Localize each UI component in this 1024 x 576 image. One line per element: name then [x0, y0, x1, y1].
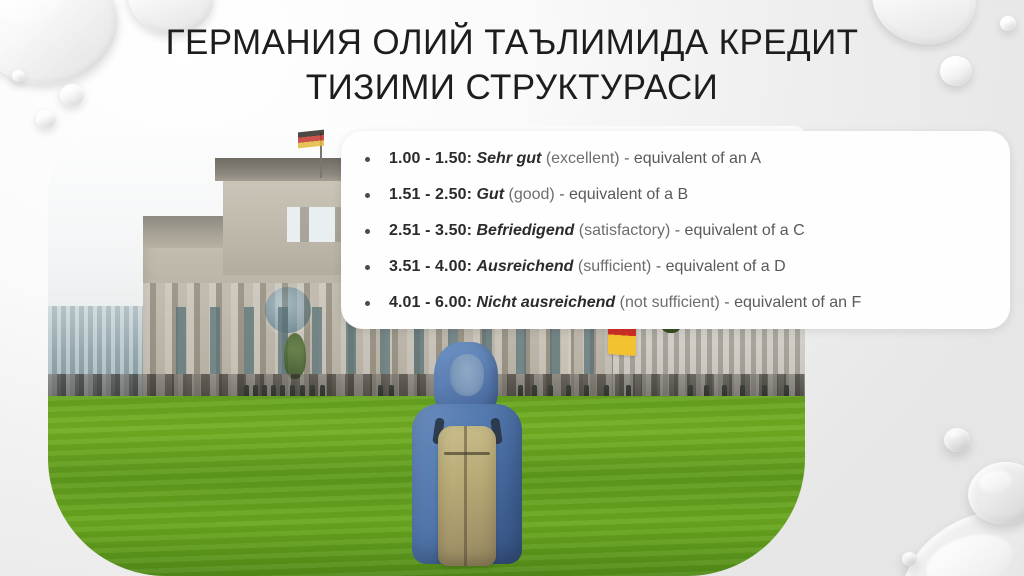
bubble-icon [60, 84, 84, 106]
grade-gloss: (not sufficient) [620, 294, 720, 311]
presentation-slide: ГЕРМАНИЯ ОЛИЙ ТАЪЛИМИДА КРЕДИТ ТИЗИМИ СТ… [0, 0, 1024, 576]
grade-range: 2.51 - 3.50: [389, 222, 472, 239]
grading-scale-list: 1.00 - 1.50: Sehr gut (excellent) - equi… [341, 141, 1010, 321]
bubble-icon [881, 486, 1024, 576]
grade-gloss: (satisfactory) [579, 222, 671, 239]
bullet-icon [365, 193, 370, 198]
grade-equivalent: - equivalent of a C [675, 222, 805, 239]
backpack [438, 426, 496, 566]
german-flag-top-icon [298, 129, 324, 148]
grade-term: Befriedigend [476, 222, 574, 239]
grade-range: 1.51 - 2.50: [389, 186, 472, 203]
list-item: 4.01 - 6.00: Nicht ausreichend (not suff… [341, 285, 1010, 321]
grade-equivalent: - equivalent of a B [559, 186, 688, 203]
tree [284, 333, 306, 379]
bullet-icon [365, 229, 370, 234]
bullet-icon [365, 265, 370, 270]
list-item: 1.00 - 1.50: Sehr gut (excellent) - equi… [341, 141, 1010, 177]
bubble-icon [1000, 16, 1016, 31]
grade-term: Gut [476, 186, 504, 203]
bubble-icon [902, 552, 917, 566]
list-item: 1.51 - 2.50: Gut (good) - equivalent of … [341, 177, 1010, 213]
grade-gloss: (excellent) [546, 150, 620, 167]
grade-range: 1.00 - 1.50: [389, 150, 472, 167]
grade-range: 4.01 - 6.00: [389, 294, 472, 311]
list-item: 3.51 - 4.00: Ausreichend (sufficient) - … [341, 249, 1010, 285]
bullet-icon [365, 301, 370, 306]
grade-gloss: (good) [508, 186, 554, 203]
bullet-icon [365, 157, 370, 162]
bubble-icon [944, 428, 970, 452]
title-line-1: ГЕРМАНИЯ ОЛИЙ ТАЪЛИМИДА КРЕДИТ [112, 20, 912, 65]
bubble-icon [12, 70, 25, 82]
grade-gloss: (sufficient) [578, 258, 652, 275]
grade-term: Sehr gut [476, 150, 541, 167]
title-line-2: ТИЗИМИ СТРУКТУРАСИ [112, 65, 912, 110]
bubble-icon [0, 0, 129, 97]
grade-equivalent: - equivalent of a D [656, 258, 786, 275]
grade-range: 3.51 - 4.00: [389, 258, 472, 275]
bubble-icon [963, 456, 1024, 530]
backpacker-figure [392, 342, 542, 576]
grade-equivalent: - equivalent of an A [624, 150, 761, 167]
grade-term: Ausreichend [476, 258, 573, 275]
face [450, 354, 484, 396]
slide-title: ГЕРМАНИЯ ОЛИЙ ТАЪЛИМИДА КРЕДИТ ТИЗИМИ СТ… [112, 20, 912, 110]
grading-scale-card: 1.00 - 1.50: Sehr gut (excellent) - equi… [341, 131, 1010, 329]
bubble-icon [940, 56, 972, 86]
list-item: 2.51 - 3.50: Befriedigend (satisfactory)… [341, 213, 1010, 249]
grade-term: Nicht ausreichend [476, 294, 615, 311]
grade-equivalent: - equivalent of an F [724, 294, 861, 311]
